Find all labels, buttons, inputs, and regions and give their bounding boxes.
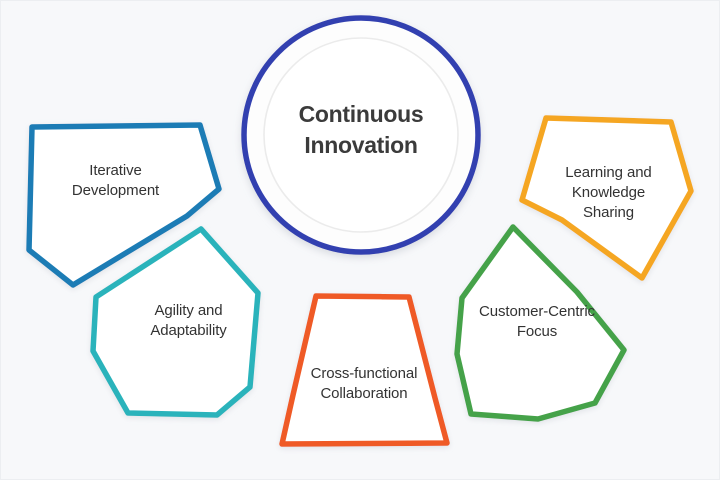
diagram-canvas: Continuous Innovation Iterative Developm… xyxy=(0,0,720,480)
node-shape-customer-centric-focus[interactable] xyxy=(457,227,624,419)
node-shape-learning-and-knowledge-sharing[interactable] xyxy=(522,118,691,278)
node-shape-cross-functional-collaboration[interactable] xyxy=(282,296,447,444)
hub-label: Continuous Innovation xyxy=(241,99,481,160)
diagram-svg xyxy=(1,1,720,480)
